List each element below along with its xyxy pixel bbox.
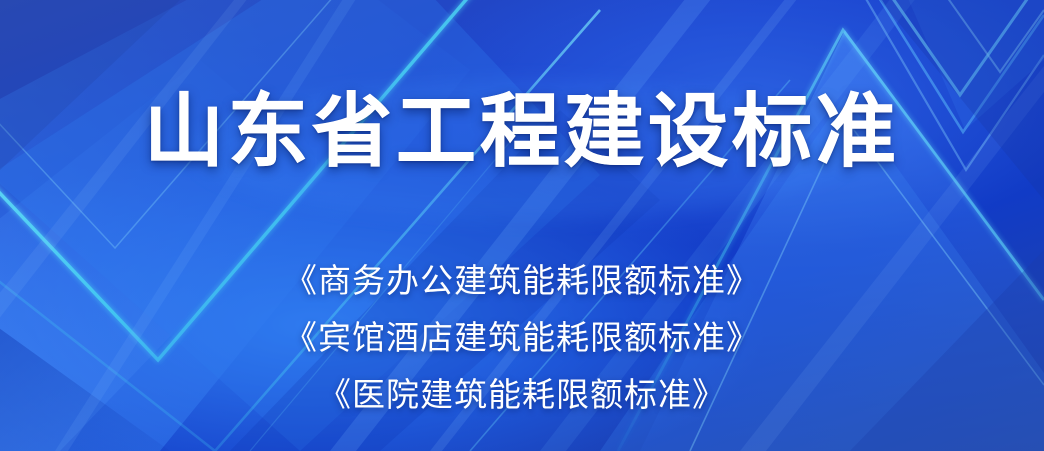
page-title: 山东省工程建设标准 xyxy=(144,92,900,172)
list-item: 《医院建筑能耗限额标准》 xyxy=(318,378,726,414)
standards-banner: 山东省工程建设标准 《商务办公建筑能耗限额标准》 《宾馆酒店建筑能耗限额标准》 … xyxy=(0,0,1044,451)
list-item: 《商务办公建筑能耗限额标准》 xyxy=(284,264,760,300)
banner-content: 山东省工程建设标准 《商务办公建筑能耗限额标准》 《宾馆酒店建筑能耗限额标准》 … xyxy=(0,0,1044,451)
standards-list: 《商务办公建筑能耗限额标准》 《宾馆酒店建筑能耗限额标准》 《医院建筑能耗限额标… xyxy=(284,264,760,415)
list-item: 《宾馆酒店建筑能耗限额标准》 xyxy=(284,321,760,357)
